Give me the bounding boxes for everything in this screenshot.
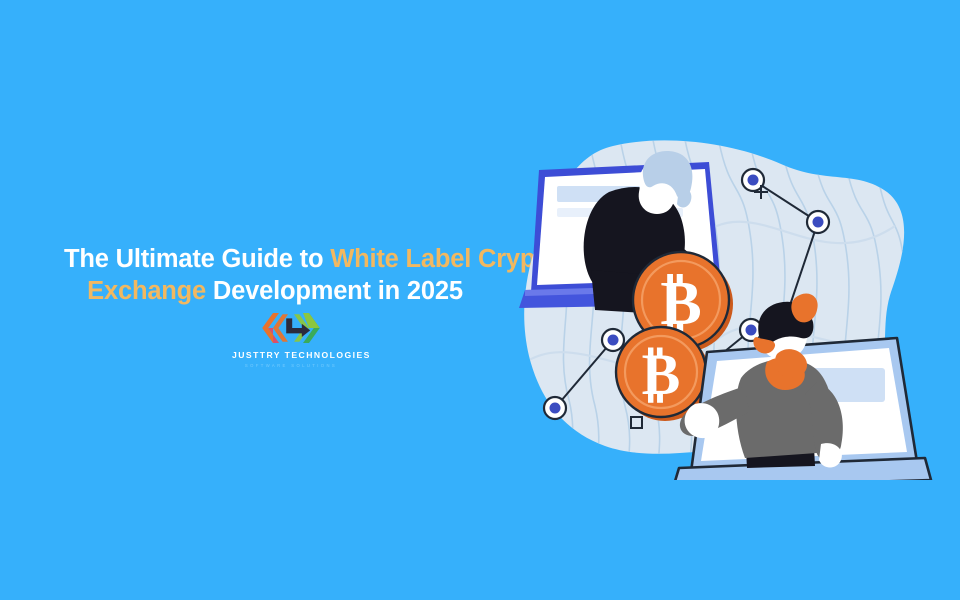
headline-line2-white: Development in 2025 bbox=[206, 277, 463, 305]
headline-line-2: Exchange Development in 2025 bbox=[64, 275, 534, 307]
logo-wordmark: JUSTTRY TECHNOLOGIES bbox=[232, 350, 350, 360]
headline-block: The Ultimate Guide to White Label Crypto… bbox=[64, 243, 534, 307]
headline-line1-white: The Ultimate Guide to bbox=[64, 245, 330, 273]
logo-tagline: SOFTWARE SOLUTIONS bbox=[232, 363, 350, 368]
hero-banner: The Ultimate Guide to White Label Crypto… bbox=[0, 0, 960, 600]
crypto-exchange-illustration: ₿ ₿ bbox=[495, 140, 935, 480]
brand-logo: JUSTTRY TECHNOLOGIES SOFTWARE SOLUTIONS bbox=[232, 308, 350, 368]
justtry-logo-icon bbox=[255, 308, 327, 348]
headline-line-1: The Ultimate Guide to White Label Crypto bbox=[64, 243, 534, 275]
svg-text:₿: ₿ bbox=[642, 342, 681, 407]
headline-line2-accent: Exchange bbox=[87, 277, 206, 305]
